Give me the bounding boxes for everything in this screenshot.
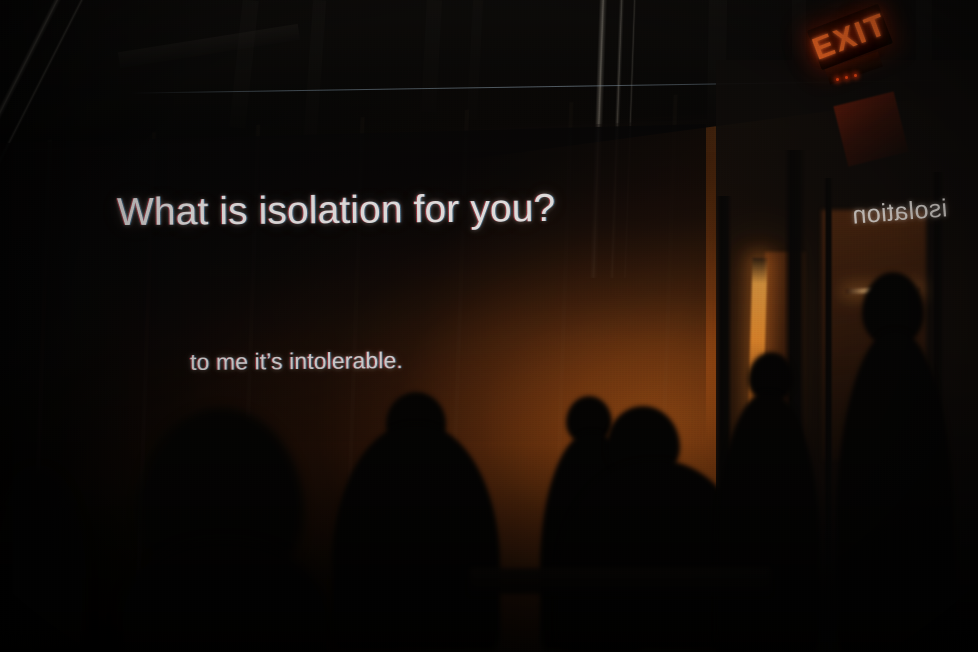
audience-silhouettes <box>0 0 978 652</box>
figure-braided-body <box>716 392 820 652</box>
installation-photo: What is isolation for you? to me it’s in… <box>0 0 978 652</box>
figure-hooded-fur-body <box>332 424 500 652</box>
figure-far-left-edge <box>0 470 86 652</box>
bench-row <box>470 568 770 594</box>
figure-standing-body <box>836 330 954 652</box>
